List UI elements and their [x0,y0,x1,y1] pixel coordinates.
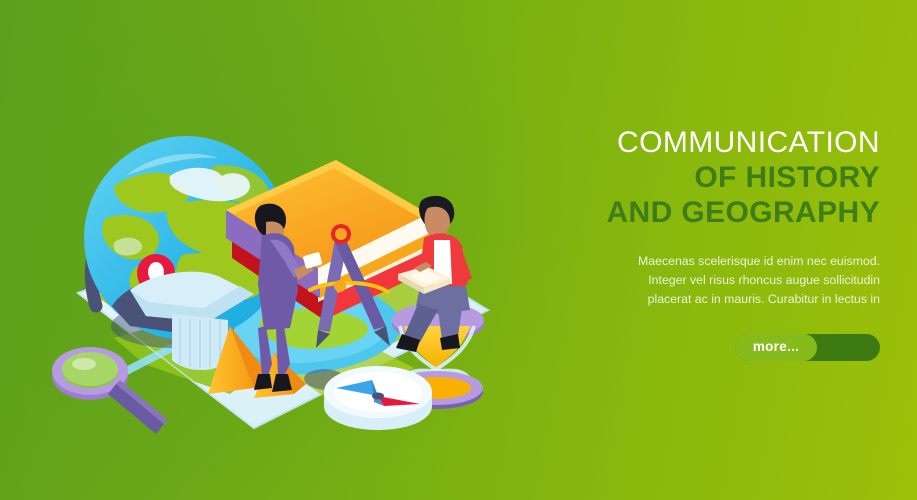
headline-line-1: COMMUNICATION [560,126,880,161]
text-panel: COMMUNICATION OF HISTORY AND GEOGRAPHY M… [560,126,880,361]
headline-line-2: OF HISTORY [560,161,880,196]
navigation-compass-illustration [304,366,432,430]
promo-banner: COMMUNICATION OF HISTORY AND GEOGRAPHY M… [0,0,917,500]
history-geography-illustration [18,58,518,448]
page-title: COMMUNICATION OF HISTORY AND GEOGRAPHY [560,126,880,230]
cta-container: more... [560,334,880,361]
more-button-pill: more... [735,334,817,361]
more-button-label: more... [753,340,799,354]
body-copy: Maecenas scelerisque id enim nec euismod… [560,252,880,309]
body-copy-line-2: Integer vel risus rhoncus augue sollicit… [560,271,880,290]
body-copy-line-1: Maecenas scelerisque id enim nec euismod… [560,252,880,271]
headline-line-3: AND GEOGRAPHY [560,196,880,231]
more-button[interactable]: more... [735,334,880,361]
body-copy-line-3: placerat ac in mauris. Curabitur in lect… [560,290,880,309]
